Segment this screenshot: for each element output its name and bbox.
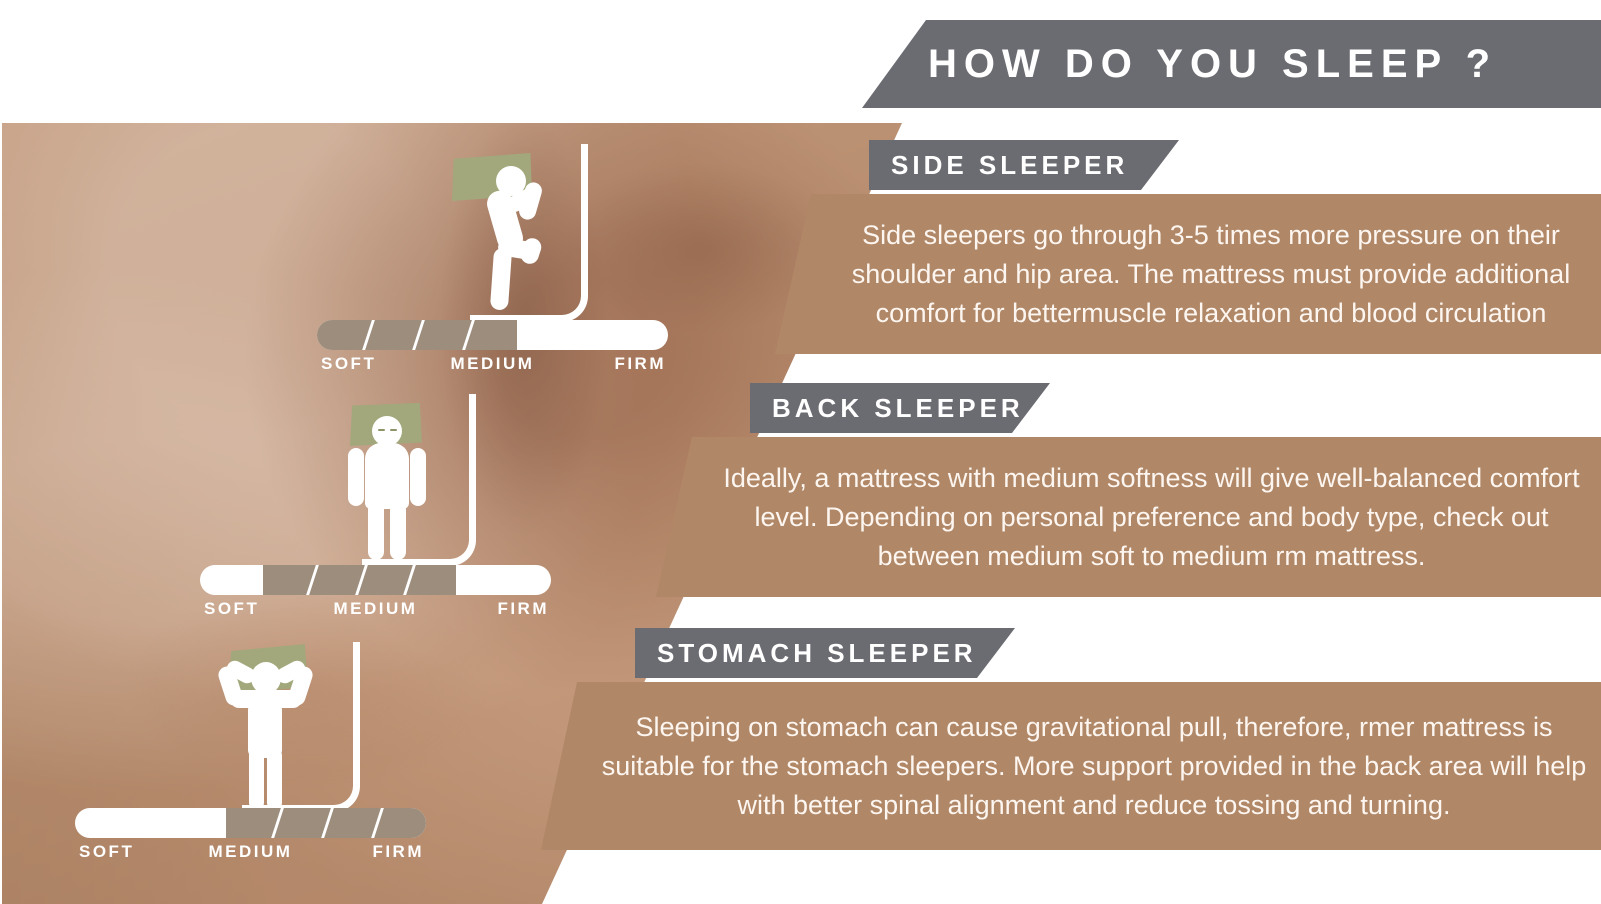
sleeper-leg-left: [368, 502, 384, 560]
firmness-tick: [403, 565, 416, 595]
firmness-scale-back[interactable]: SOFT MEDIUM FIRM: [200, 565, 551, 625]
section-body-side-sleeper: Side sleepers go through 3-5 times more …: [775, 194, 1601, 354]
section-body-back-sleeper: Ideally, a mattress with medium softness…: [656, 437, 1601, 597]
firmness-scale-stomach[interactable]: SOFT MEDIUM FIRM: [75, 808, 426, 868]
side-sleeper-figure: [430, 140, 600, 330]
section-body-text: Sleeping on stomach can cause gravitatio…: [541, 708, 1601, 825]
sleeper-leg-right: [390, 502, 406, 560]
scale-label-soft: SOFT: [79, 842, 134, 862]
scale-label-soft: SOFT: [321, 354, 376, 374]
firmness-tick: [462, 320, 475, 350]
sleeper-arm-right: [410, 448, 426, 506]
firmness-track[interactable]: [317, 320, 668, 350]
sleeper-leg-left: [249, 748, 264, 810]
sleeper-torso: [365, 443, 409, 509]
section-body-text: Ideally, a mattress with medium softness…: [656, 459, 1601, 576]
section-heading-back-sleeper: BACK SLEEPER: [750, 383, 1050, 433]
section-heading-label: SIDE SLEEPER: [891, 150, 1128, 181]
firmness-scale-labels: SOFT MEDIUM FIRM: [75, 842, 426, 864]
page-title: HOW DO YOU SLEEP ?: [928, 44, 1497, 84]
stomach-sleeper-figure: [196, 628, 371, 823]
scale-label-soft: SOFT: [204, 599, 259, 619]
scale-label-firm: FIRM: [614, 354, 666, 374]
sleeper-eye-right: [390, 429, 397, 431]
sleeper-eye-left: [378, 429, 385, 431]
infographic-canvas: HOW DO YOU SLEEP ? SIDE SLEEPER Side sle…: [0, 0, 1601, 904]
section-heading-label: BACK SLEEPER: [772, 393, 1024, 424]
firmness-segment-ticks: [200, 565, 551, 595]
firmness-track[interactable]: [75, 808, 426, 838]
section-heading-side-sleeper: SIDE SLEEPER: [869, 140, 1179, 190]
firmness-tick: [355, 565, 368, 595]
scale-label-medium: MEDIUM: [451, 354, 535, 374]
firmness-scale-side[interactable]: SOFT MEDIUM FIRM: [317, 320, 668, 380]
scale-label-firm: FIRM: [372, 842, 424, 862]
scale-label-medium: MEDIUM: [334, 599, 418, 619]
firmness-segment-ticks: [317, 320, 668, 350]
firmness-track[interactable]: [200, 565, 551, 595]
firmness-tick: [321, 808, 334, 838]
firmness-tick: [271, 808, 284, 838]
sleeper-head: [372, 416, 402, 446]
firmness-scale-labels: SOFT MEDIUM FIRM: [317, 354, 668, 376]
section-body-text: Side sleepers go through 3-5 times more …: [775, 216, 1601, 333]
firmness-tick: [307, 565, 320, 595]
section-body-stomach-sleeper: Sleeping on stomach can cause gravitatio…: [541, 682, 1601, 850]
header-bar: HOW DO YOU SLEEP ?: [862, 20, 1601, 108]
firmness-tick: [371, 808, 384, 838]
back-sleeper-figure: [320, 388, 490, 573]
firmness-scale-labels: SOFT MEDIUM FIRM: [200, 599, 551, 621]
section-heading-stomach-sleeper: STOMACH SLEEPER: [635, 628, 1015, 678]
firmness-tick: [362, 320, 375, 350]
sleeper-arm-left: [348, 448, 364, 506]
scale-label-medium: MEDIUM: [209, 842, 293, 862]
scale-label-firm: FIRM: [497, 599, 549, 619]
firmness-tick: [412, 320, 425, 350]
firmness-segment-ticks: [75, 808, 426, 838]
section-heading-label: STOMACH SLEEPER: [657, 638, 977, 669]
sleeper-leg-right: [267, 748, 282, 810]
